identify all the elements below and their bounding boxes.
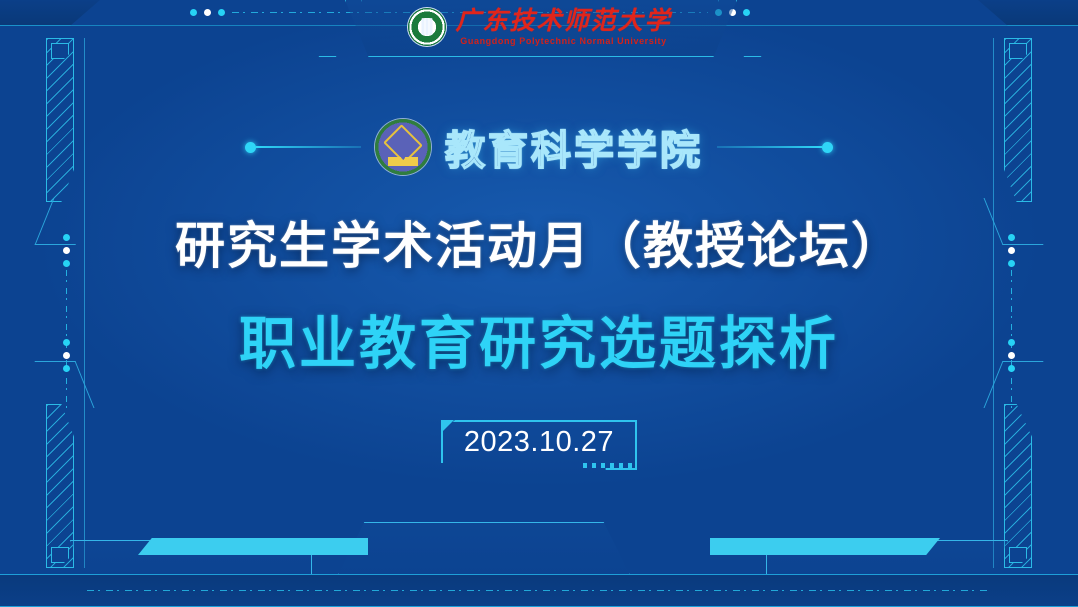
- dot-cyan-icon: [218, 9, 225, 16]
- college-header: 教育科学学院: [0, 118, 1078, 176]
- bottom-cyan-bar-right: [710, 538, 940, 555]
- ribbon-corner-square-top: [1009, 43, 1027, 59]
- rule-line: [256, 146, 361, 148]
- title-line-1: 研究生学术活动月（教授论坛）: [0, 206, 1078, 278]
- ribbon-corner-square-top: [51, 43, 69, 59]
- university-banner: 广东技术师范大学 Guangdong Polytechnic Normal Un…: [345, 4, 735, 50]
- bottom-trapezoid-center: [338, 522, 630, 575]
- hatched-ribbon-bottom: [1004, 404, 1032, 568]
- college-name: 教育科学学院: [445, 118, 703, 176]
- university-name-cn: 广东技术师范大学: [455, 8, 671, 33]
- date-badge: 2023.10.27: [441, 420, 637, 470]
- footer-dot-dash-row: [66, 575, 1012, 606]
- university-seal-icon: [408, 8, 446, 46]
- rule-dot-icon: [245, 142, 256, 153]
- presentation-title-slide: 广东技术师范大学 Guangdong Polytechnic Normal Un…: [0, 0, 1078, 607]
- dot-cyan-icon: [190, 9, 197, 16]
- university-name-block: 广东技术师范大学 Guangdong Polytechnic Normal Un…: [455, 8, 671, 46]
- rule-left: [245, 142, 361, 153]
- ribbon-corner-square-bottom: [51, 547, 69, 563]
- dot-white-icon: [204, 9, 211, 16]
- dashed-line-icon: [87, 590, 991, 591]
- bottom-cyan-bar-left: [138, 538, 368, 555]
- college-emblem-icon: [375, 119, 431, 175]
- university-name-en: Guangdong Polytechnic Normal University: [460, 37, 666, 46]
- footer-decor-bar: [0, 574, 1078, 607]
- date-text: 2023.10.27: [441, 420, 637, 470]
- rule-right: [717, 142, 833, 153]
- rule-dot-icon: [822, 142, 833, 153]
- hatched-ribbon-bottom: [46, 404, 74, 568]
- rule-line: [717, 146, 822, 148]
- dot-cyan-icon: [743, 9, 750, 16]
- ribbon-corner-square-bottom: [1009, 547, 1027, 563]
- title-line-2: 职业教育研究选题探析: [0, 298, 1078, 380]
